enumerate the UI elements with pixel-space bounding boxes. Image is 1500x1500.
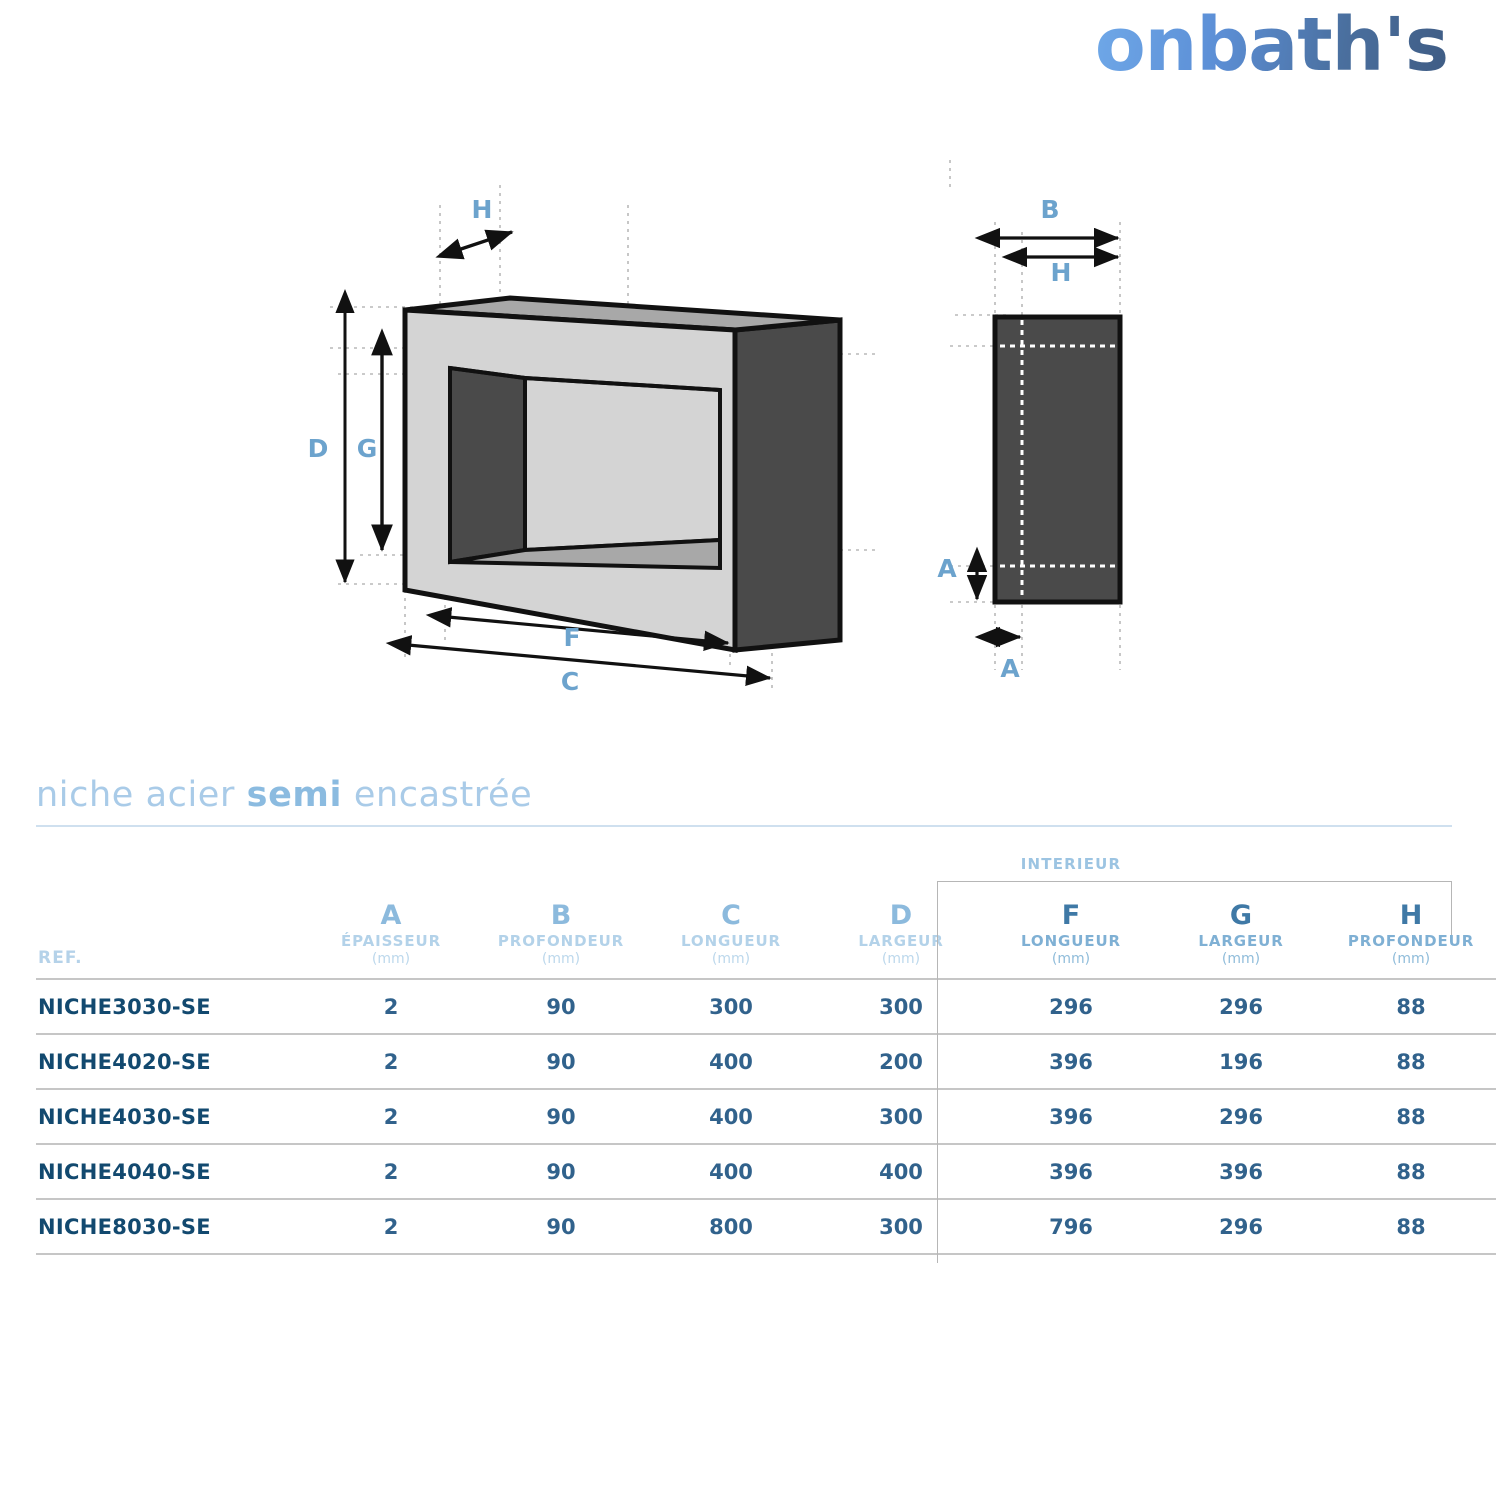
row-value-g: 196	[1156, 1034, 1326, 1089]
row-value-d: 400	[816, 1144, 986, 1199]
row-value-f: 296	[986, 979, 1156, 1034]
row-ref: NICHE4030-SE	[36, 1089, 306, 1144]
row-value-f: 396	[986, 1034, 1156, 1089]
row-value-f: 396	[986, 1089, 1156, 1144]
row-value-b: 90	[476, 1144, 646, 1199]
row-ref: NICHE8030-SE	[36, 1199, 306, 1254]
column-label-c: LONGUEUR	[646, 933, 816, 951]
column-label-a: ÉPAISSEUR	[306, 933, 476, 951]
column-label-h: PROFONDEUR	[1326, 933, 1496, 951]
dimension-D: D	[308, 310, 345, 582]
column-header-h: H PROFONDEUR (mm)	[1326, 876, 1496, 979]
title-suffix: encastrée	[342, 775, 532, 815]
group-header-interieur: INTERIEUR	[816, 845, 1326, 876]
column-header-g: G LARGEUR (mm)	[1156, 876, 1326, 979]
spec-table-body: NICHE3030-SE 2 90 300 300 296 296 88 NIC…	[36, 979, 1496, 1254]
column-unit-c: (mm)	[646, 951, 816, 968]
dimension-B: B	[997, 195, 1118, 238]
page-title: niche acier semi encastrée	[36, 776, 1452, 815]
column-header-c: C LONGUEUR (mm)	[646, 876, 816, 979]
row-value-c: 400	[646, 1089, 816, 1144]
row-value-b: 90	[476, 979, 646, 1034]
table-row[interactable]: NICHE4020-SE 2 90 400 200 396 196 88	[36, 1034, 1496, 1089]
table-row[interactable]: NICHE8030-SE 2 90 800 300 796 296 88	[36, 1199, 1496, 1254]
row-value-h: 88	[1326, 1089, 1496, 1144]
row-value-g: 296	[1156, 1199, 1326, 1254]
row-value-g: 296	[1156, 1089, 1326, 1144]
column-unit-g: (mm)	[1156, 951, 1326, 968]
interior-group-top-border	[937, 881, 1452, 882]
title-prefix: niche acier	[36, 775, 247, 815]
table-row[interactable]: NICHE3030-SE 2 90 300 300 296 296 88	[36, 979, 1496, 1034]
niche-perspective-body	[405, 298, 840, 650]
title-emphasis: semi	[247, 775, 342, 815]
dimension-label-C: C	[561, 667, 579, 696]
row-value-a: 2	[306, 1199, 476, 1254]
row-value-a: 2	[306, 1089, 476, 1144]
row-value-f: 396	[986, 1144, 1156, 1199]
column-letter-h: H	[1326, 900, 1496, 932]
row-value-h: 88	[1326, 1144, 1496, 1199]
column-letter-c: C	[646, 900, 816, 932]
section-title-wrap: niche acier semi encastrée	[36, 776, 1452, 827]
column-unit-f: (mm)	[986, 951, 1156, 968]
dimension-label-G: G	[357, 434, 378, 463]
column-label-g: LARGEUR	[1156, 933, 1326, 951]
group-header-pad	[1326, 845, 1496, 876]
niche-inner-back-panel	[525, 378, 720, 550]
column-header-d: D LARGEUR (mm)	[816, 876, 986, 979]
interior-group-left-border	[937, 881, 938, 1263]
column-label-d: LARGEUR	[816, 933, 986, 951]
dimension-H-perspective: H	[458, 195, 512, 250]
dimension-label-A-horizontal: A	[1000, 654, 1020, 683]
row-value-c: 300	[646, 979, 816, 1034]
row-value-h: 88	[1326, 979, 1496, 1034]
row-value-d: 200	[816, 1034, 986, 1089]
row-value-c: 400	[646, 1144, 816, 1199]
group-header-row: INTERIEUR	[36, 845, 1496, 876]
dimension-label-H-side: H	[1051, 258, 1072, 287]
row-value-f: 796	[986, 1199, 1156, 1254]
dimension-label-A-vertical: A	[937, 554, 957, 583]
column-unit-d: (mm)	[816, 951, 986, 968]
row-value-d: 300	[816, 1199, 986, 1254]
row-value-c: 800	[646, 1199, 816, 1254]
interior-group-right-border	[1451, 881, 1452, 935]
column-letter-b: B	[476, 900, 646, 932]
row-value-a: 2	[306, 1144, 476, 1199]
column-letter-g: G	[1156, 900, 1326, 932]
dimension-label-B: B	[1040, 195, 1059, 224]
spec-table-wrap: INTERIEUR REF. A ÉPAISSEUR (mm) B PROFON…	[36, 845, 1452, 1255]
dimension-A-horizontal: A	[997, 637, 1020, 683]
row-value-g: 296	[1156, 979, 1326, 1034]
spec-table: INTERIEUR REF. A ÉPAISSEUR (mm) B PROFON…	[36, 845, 1496, 1255]
row-value-a: 2	[306, 979, 476, 1034]
dimension-A-vertical: A	[937, 554, 977, 599]
column-header-a: A ÉPAISSEUR (mm)	[306, 876, 476, 979]
row-value-c: 400	[646, 1034, 816, 1089]
column-label-b: PROFONDEUR	[476, 933, 646, 951]
brand-logo: onbath's	[1095, 8, 1448, 82]
dimension-label-D: D	[308, 434, 329, 463]
row-value-b: 90	[476, 1089, 646, 1144]
title-divider	[36, 825, 1452, 827]
row-ref: NICHE4020-SE	[36, 1034, 306, 1089]
row-value-d: 300	[816, 1089, 986, 1144]
dimension-G: G	[357, 352, 382, 550]
column-unit-h: (mm)	[1326, 951, 1496, 968]
dimension-label-H-perspective: H	[472, 195, 493, 224]
dimension-label-F: F	[563, 623, 580, 652]
row-value-d: 300	[816, 979, 986, 1034]
column-header-f: F LONGUEUR (mm)	[986, 876, 1156, 979]
column-header-row: REF. A ÉPAISSEUR (mm) B PROFONDEUR (mm) …	[36, 876, 1496, 979]
table-row[interactable]: NICHE4040-SE 2 90 400 400 396 396 88	[36, 1144, 1496, 1199]
column-header-ref: REF.	[36, 876, 306, 979]
row-value-h: 88	[1326, 1034, 1496, 1089]
column-unit-b: (mm)	[476, 951, 646, 968]
column-letter-f: F	[986, 900, 1156, 932]
technical-drawing: H D G F C	[0, 150, 1500, 750]
niche-side-view-body	[995, 317, 1120, 602]
row-value-h: 88	[1326, 1199, 1496, 1254]
column-letter-d: D	[816, 900, 986, 932]
column-label-f: LONGUEUR	[986, 933, 1156, 951]
column-header-b: B PROFONDEUR (mm)	[476, 876, 646, 979]
row-value-b: 90	[476, 1199, 646, 1254]
niche-inner-left-panel	[450, 368, 525, 562]
column-letter-a: A	[306, 900, 476, 932]
group-header-spacer	[36, 845, 816, 876]
dimension-C: C	[408, 645, 770, 696]
row-value-g: 396	[1156, 1144, 1326, 1199]
table-row[interactable]: NICHE4030-SE 2 90 400 300 396 296 88	[36, 1089, 1496, 1144]
column-unit-a: (mm)	[306, 951, 476, 968]
row-value-b: 90	[476, 1034, 646, 1089]
drawing-svg: H D G F C	[0, 150, 1500, 750]
niche-right-side-face	[735, 320, 840, 650]
row-value-a: 2	[306, 1034, 476, 1089]
row-ref: NICHE3030-SE	[36, 979, 306, 1034]
spec-sheet-page: onbath's	[0, 0, 1500, 1500]
row-ref: NICHE4040-SE	[36, 1144, 306, 1199]
dimension-H-side: H	[1024, 257, 1118, 287]
